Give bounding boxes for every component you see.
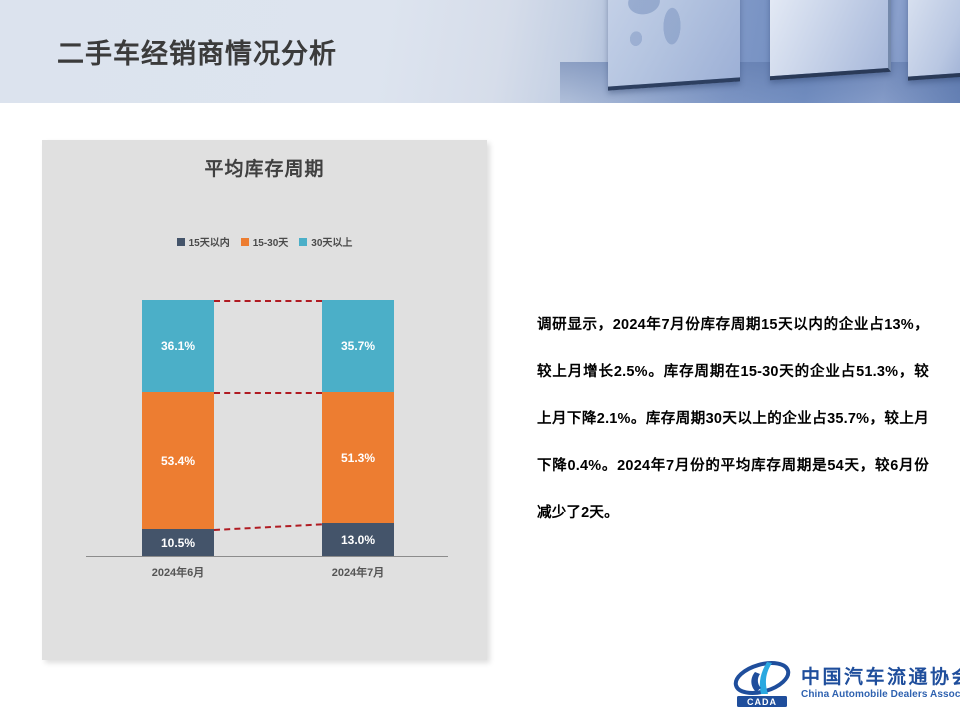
bar-value-label: 51.3% (341, 451, 375, 465)
connector-line-mid (214, 392, 322, 394)
logo-name-en: China Automobile Dealers Association (801, 689, 960, 701)
bar-segment-30days-plus[interactable]: 35.7% (322, 300, 394, 392)
bar-value-label: 13.0% (341, 533, 375, 547)
analysis-text-block: 调研显示，2024年7月份库存周期15天以内的企业占13%，较上月增长2.5%。… (537, 302, 929, 537)
logo-text-block: 中国汽车流通协会 China Automobile Dealers Associ… (801, 667, 960, 701)
x-axis-label-0: 2024年6月 (113, 564, 243, 580)
svg-text:CADA: CADA (747, 697, 777, 707)
bar-value-label: 10.5% (161, 536, 195, 550)
connector-line-low (214, 523, 322, 531)
slide-header: 二手车经销商情况分析 (0, 0, 960, 103)
bar-value-label: 53.4% (161, 454, 195, 468)
analysis-paragraph: 调研显示，2024年7月份库存周期15天以内的企业占13%，较上月增长2.5%。… (537, 302, 929, 537)
bar-segment-15-30days[interactable]: 53.4% (142, 392, 214, 529)
bar-segment-within-15days[interactable]: 13.0% (322, 523, 394, 556)
cube-right-icon (908, 0, 960, 81)
chart-axis-line (86, 556, 448, 557)
bar-segment-15-30days[interactable]: 51.3% (322, 392, 394, 523)
bar-value-label: 35.7% (341, 339, 375, 353)
cube-left-icon (608, 0, 740, 91)
bar-segment-within-15days[interactable]: 10.5% (142, 529, 214, 556)
bar-value-label: 36.1% (161, 339, 195, 353)
cada-logo: CADA 中国汽车流通协会 China Automobile Dealers A… (731, 655, 951, 713)
plot-area: 36.1% 53.4% 10.5% 35.7% 51.3% 13.0% 2024… (42, 140, 487, 660)
logo-name-cn: 中国汽车流通协会 (801, 667, 960, 689)
cada-logo-mark-icon: CADA (731, 658, 793, 710)
connector-line-top (214, 300, 322, 302)
page-title: 二手车经销商情况分析 (57, 32, 337, 71)
chart-panel: 平均库存周期 15天以内 15-30天 30天以上 36.1% 53.4% (42, 140, 487, 660)
bar-segment-30days-plus[interactable]: 36.1% (142, 300, 214, 392)
cube-center-icon (770, 0, 891, 80)
x-axis-label-1: 2024年7月 (293, 564, 423, 580)
